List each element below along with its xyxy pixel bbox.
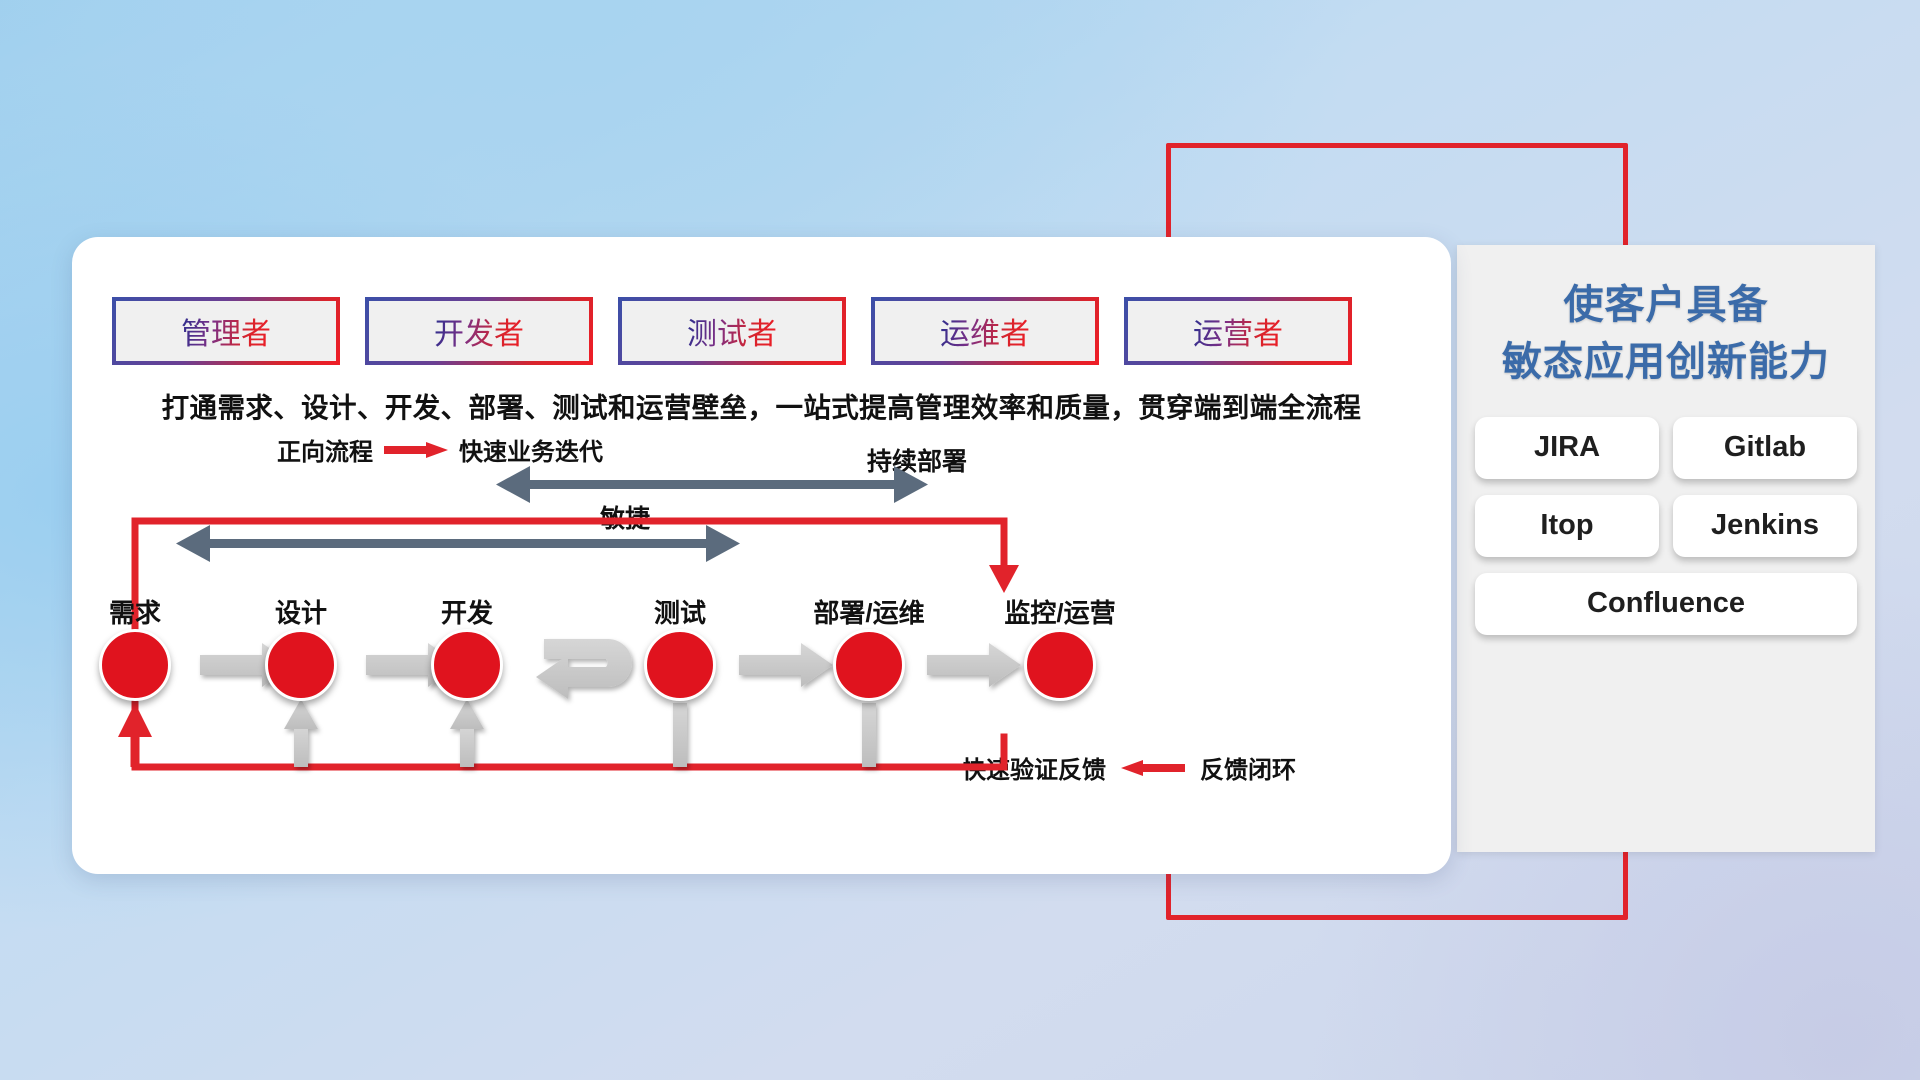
stage-node-design[interactable] xyxy=(265,629,337,701)
tool-chip-confluence[interactable]: Confluence xyxy=(1475,573,1857,635)
diagram-canvas: 使客户具备 敏态应用创新能力 JIRA Gitlab Itop Jenkins … xyxy=(0,0,1920,1080)
gray-feedback-arrow-develop xyxy=(450,699,484,767)
stage-node-develop[interactable] xyxy=(431,629,503,701)
legend-feedback-to-label: 快速验证反馈 xyxy=(962,750,1106,785)
legend-forward-to-label: 快速业务迭代 xyxy=(459,432,603,467)
gray-feedback-arrow-deploy xyxy=(862,703,876,767)
stage-node-monitor-operations[interactable] xyxy=(1024,629,1096,701)
gray-feedback-arrow-test xyxy=(673,703,687,767)
main-card: 管理者 开发者 测试者 运维者 运营者 打通需求、设计、开发、部署、测试和运营壁… xyxy=(72,237,1451,874)
legend-feedback-loop: 快速验证反馈 反馈闭环 xyxy=(962,750,1296,785)
stage-node-requirement[interactable] xyxy=(99,629,171,701)
stage-node-deploy-ops[interactable] xyxy=(833,629,905,701)
stage-label-design: 设计 xyxy=(275,593,327,630)
gray-arrow-5 xyxy=(927,643,1021,687)
tool-chip-grid: JIRA Gitlab Itop Jenkins Confluence xyxy=(1475,417,1857,635)
legend-feedback-from-label: 反馈闭环 xyxy=(1200,750,1296,785)
tools-panel: 使客户具备 敏态应用创新能力 JIRA Gitlab Itop Jenkins … xyxy=(1457,245,1875,852)
stage-label-monitor-operations: 监控/运营 xyxy=(1004,593,1115,630)
tool-chip-jira[interactable]: JIRA xyxy=(1475,417,1659,479)
tools-title-line-1: 使客户具备 xyxy=(1457,277,1875,334)
gray-feedback-arrow-design xyxy=(284,699,318,767)
legend-forward-flow: 正向流程 快速业务迭代 xyxy=(277,432,603,467)
span-arrow-continuous-deployment xyxy=(496,466,928,503)
stage-label-test: 测试 xyxy=(654,593,706,630)
tools-panel-title: 使客户具备 敏态应用创新能力 xyxy=(1457,245,1875,391)
stage-node-test[interactable] xyxy=(644,629,716,701)
span-arrow-agile xyxy=(176,525,740,562)
legend-forward-from-label: 正向流程 xyxy=(277,432,373,467)
gray-arrow-4 xyxy=(739,643,833,687)
arrow-left-red-icon xyxy=(1121,760,1185,775)
gray-feedback-stems xyxy=(284,699,876,767)
tools-title-line-2: 敏态应用创新能力 xyxy=(1457,334,1875,391)
arrow-right-red-icon xyxy=(384,442,448,457)
tool-chip-gitlab[interactable]: Gitlab xyxy=(1673,417,1857,479)
span-label-continuous-deployment: 持续部署 xyxy=(867,442,967,478)
tool-chip-itop[interactable]: Itop xyxy=(1475,495,1659,557)
gray-loop-arrow-icon xyxy=(534,633,640,707)
stage-label-deploy-ops: 部署/运维 xyxy=(813,593,924,630)
tool-chip-jenkins[interactable]: Jenkins xyxy=(1673,495,1857,557)
stage-label-develop: 开发 xyxy=(441,593,493,630)
pipeline: 正向流程 快速业务迭代 快速验证反馈 反馈闭环 持续部署 敏捷 xyxy=(72,237,1451,874)
stage-label-requirement: 需求 xyxy=(109,593,161,630)
span-label-agile: 敏捷 xyxy=(600,499,650,535)
